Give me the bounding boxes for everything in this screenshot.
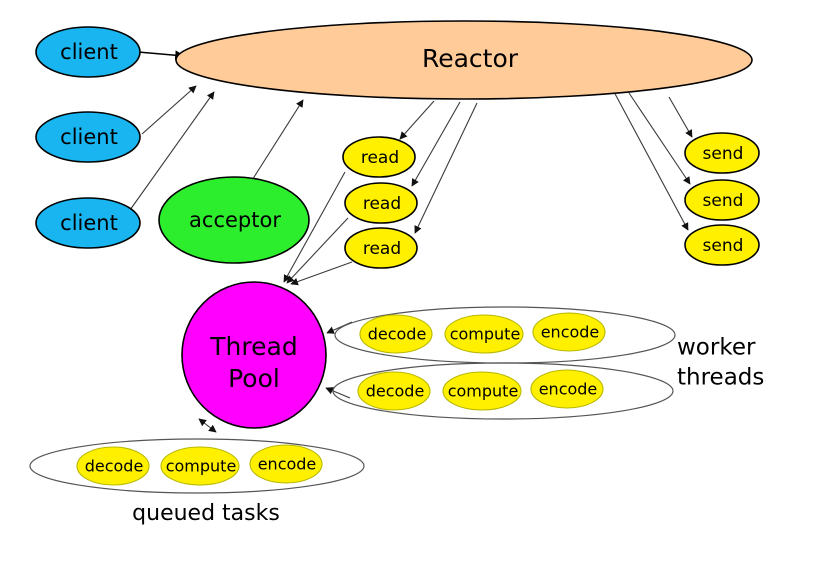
edge-reactor-to-send1 (669, 97, 692, 137)
edge-reactor-to-read3 (415, 103, 477, 233)
edge-reactor-to-send2 (629, 93, 690, 184)
worker-threads-caption: worker threads (677, 335, 764, 391)
send-node-1[interactable]: send (685, 133, 759, 173)
worker-task-r1-compute-label: compute (450, 325, 521, 344)
edge-threadpool-worker-row2 (326, 388, 350, 398)
acceptor-node[interactable]: acceptor (159, 177, 309, 263)
queued-task-compute-label: compute (166, 457, 237, 476)
read-node-3[interactable]: read (345, 228, 417, 268)
reactor-label: Reactor (422, 44, 519, 73)
worker-task-r2-decode[interactable]: decode (358, 372, 430, 410)
send-node-2[interactable]: send (685, 180, 759, 220)
queued-tasks-group: decode compute encode queued tasks (77, 445, 322, 526)
edge-reactor-to-read2 (412, 102, 460, 186)
worker-threads-caption-line2: threads (677, 365, 764, 391)
queued-task-decode-label: decode (85, 457, 144, 476)
worker-row-2-tasks: decode compute encode (358, 370, 603, 410)
client-node-3[interactable]: client (36, 198, 140, 248)
reactor-node[interactable]: Reactor (176, 21, 752, 99)
client-node-2[interactable]: client (36, 112, 140, 162)
worker-row-1-tasks: decode compute encode (360, 313, 605, 353)
worker-task-r2-compute-label: compute (448, 382, 519, 401)
edge-reactor-acceptor (249, 100, 303, 185)
queued-task-compute[interactable]: compute (161, 447, 239, 485)
send-node-3[interactable]: send (685, 225, 759, 265)
read-label-1: read (361, 148, 399, 168)
read-label-2: read (363, 194, 401, 214)
worker-task-r2-encode[interactable]: encode (531, 370, 603, 408)
read-label-3: read (363, 239, 401, 259)
read-node-2[interactable]: read (345, 183, 417, 223)
worker-task-r1-compute[interactable]: compute (445, 315, 523, 353)
client-label-3: client (60, 211, 118, 235)
thread-pool-node[interactable]: Thread Pool (182, 282, 326, 428)
thread-pool-label-line1: Thread (209, 332, 297, 361)
read-node-1[interactable]: read (343, 137, 415, 177)
queued-task-decode[interactable]: decode (77, 447, 149, 485)
diagram-canvas: Reactor client client client acceptor re… (0, 0, 836, 562)
worker-threads-caption-line1: worker (677, 335, 756, 361)
send-label-3: send (703, 236, 744, 256)
queued-tasks-caption: queued tasks (132, 501, 280, 526)
worker-task-r2-encode-label: encode (539, 380, 598, 399)
worker-task-r2-decode-label: decode (366, 382, 425, 401)
reactor-pattern-diagram: Reactor client client client acceptor re… (0, 0, 836, 562)
worker-task-r1-encode-label: encode (541, 323, 600, 342)
edge-reactor-to-read1 (400, 101, 434, 139)
worker-task-r1-decode-label: decode (368, 325, 427, 344)
queued-task-encode-label: encode (258, 455, 317, 474)
send-label-2: send (703, 191, 744, 211)
send-label-1: send (703, 144, 744, 164)
client-node-1[interactable]: client (36, 27, 140, 77)
client-label-2: client (60, 125, 118, 149)
worker-task-r1-encode[interactable]: encode (533, 313, 605, 351)
worker-task-r2-compute[interactable]: compute (443, 372, 521, 410)
edge-threadpool-queued-tasks (199, 419, 216, 432)
thread-pool-label-line2: Pool (228, 364, 280, 393)
acceptor-label: acceptor (189, 208, 281, 232)
edge-read3-to-threadpool (291, 262, 352, 284)
queued-task-encode[interactable]: encode (250, 445, 322, 483)
client-label-1: client (60, 40, 118, 64)
edge-client2-to-reactor (142, 86, 196, 134)
worker-task-r1-decode[interactable]: decode (360, 315, 432, 353)
